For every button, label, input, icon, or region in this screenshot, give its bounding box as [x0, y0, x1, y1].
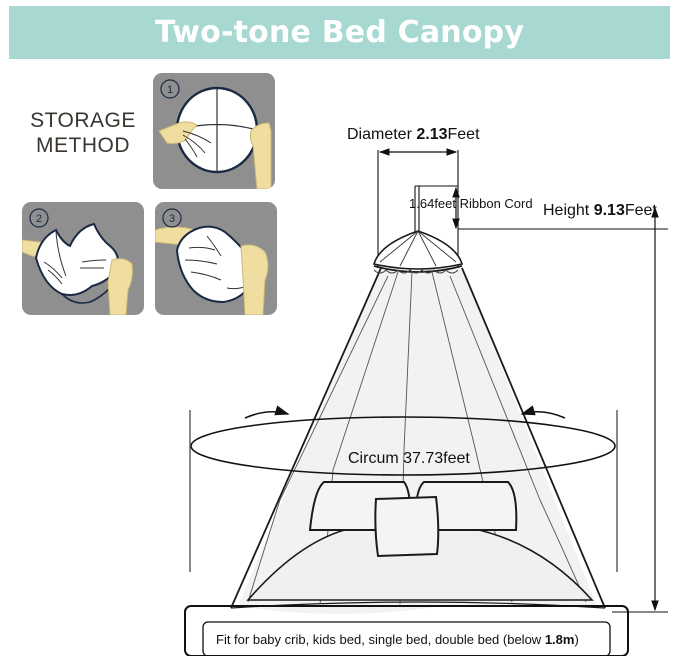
canopy-diagram	[0, 0, 679, 656]
label-circum-value: 37.73	[403, 450, 443, 467]
bed-frame-outer	[185, 606, 628, 656]
label-height-prefix: Height	[543, 202, 594, 219]
label-diameter-value: 2.13	[416, 126, 447, 143]
infographic-root: Two-tone Bed Canopy STORAGE METHOD 1	[0, 0, 679, 656]
label-circum-prefix: Circum	[348, 450, 403, 467]
label-diameter-suffix: Feet	[448, 126, 480, 143]
label-height-value: 9.13	[594, 202, 625, 219]
label-height-suffix: Feet	[625, 202, 657, 219]
label-ribbon-value: 1.64	[409, 196, 434, 211]
canopy-crown-dome	[374, 231, 462, 269]
fit-note-suffix: )	[574, 632, 578, 647]
label-circum-suffix: feet	[443, 450, 470, 467]
label-ribbon-suffix: feet Ribbon Cord	[434, 196, 532, 211]
circum-arrow-right	[522, 412, 565, 418]
pillow-center	[375, 497, 438, 556]
label-fit-note: Fit for baby crib, kids bed, single bed,…	[216, 632, 579, 647]
circum-arrow-left	[245, 412, 288, 418]
label-ribbon-cord: 1.64feet Ribbon Cord	[409, 196, 533, 211]
label-diameter-prefix: Diameter	[347, 126, 416, 143]
label-circumference: Circum 37.73feet	[348, 450, 470, 468]
fit-note-value: 1.8m	[545, 632, 575, 647]
label-diameter: Diameter 2.13Feet	[347, 126, 480, 144]
label-height: Height 9.13Feet	[543, 202, 657, 220]
fit-note-prefix: Fit for baby crib, kids bed, single bed,…	[216, 632, 545, 647]
